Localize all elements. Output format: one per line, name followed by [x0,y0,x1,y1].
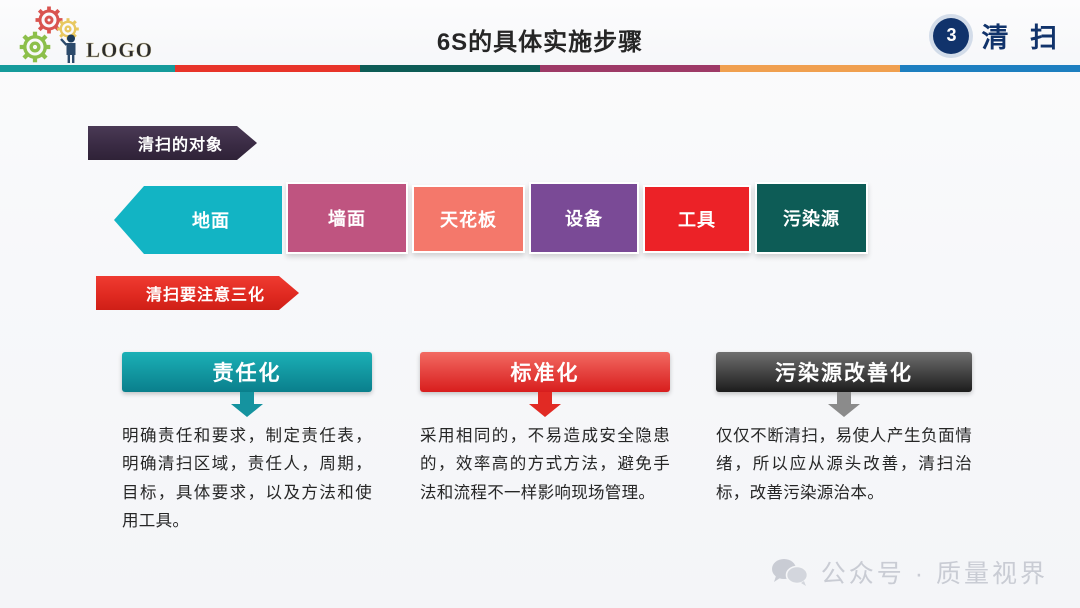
slide-header: LOGO 6S的具体实施步骤 3 清 扫 [0,0,1080,68]
principle-body: 仅仅不断清扫，易使人产生负面情绪，所以应从源头改善，清扫治标，改善污染源治本。 [716,422,972,507]
rule-segment-dark-teal [360,65,540,72]
object-chevron[interactable]: 设备 [529,182,639,254]
down-arrow-icon [827,392,861,418]
principle-column-1: 标准化 采用相同的，不易造成安全隐患的，效率高的方式方法，避免手法和流程不一样影… [420,352,670,507]
object-chevron[interactable]: 地面 [114,186,282,254]
object-chevron-label: 天花板 [440,206,497,232]
step-number-badge: 3 [933,18,969,54]
step-title: 清 扫 [981,16,1066,55]
object-chevron[interactable]: 污染源 [755,182,868,254]
banner-three-principles: 清扫要注意三化 [96,276,299,310]
object-chevron-label: 工具 [678,206,716,232]
rule-segment-teal [0,65,175,72]
object-chevron-label: 墙面 [328,205,366,231]
rule-segment-magenta [540,65,720,72]
object-chevron[interactable]: 天花板 [412,185,525,253]
header-step-indicator: 3 清 扫 [933,16,1066,55]
slide-canvas: LOGO 6S的具体实施步骤 3 清 扫 清扫的对象 地面墙面天花板设备工具污染… [0,0,1080,608]
watermark: 公众号 · 质量视界 [771,554,1048,590]
principle-title: 标准化 [420,352,670,392]
header-color-rule [0,65,1080,72]
watermark-text: 公众号 · 质量视界 [821,554,1048,590]
rule-segment-orange [720,65,900,72]
object-chevron[interactable]: 墙面 [286,182,408,254]
object-chevron[interactable]: 工具 [643,185,751,253]
object-chevron-label: 地面 [192,207,230,233]
principle-column-0: 责任化 明确责任和要求，制定责任表，明确清扫区域，责任人，周期，目标，具体要求，… [122,352,372,536]
principle-body: 采用相同的，不易造成安全隐患的，效率高的方式方法，避免手法和流程不一样影响现场管… [420,422,670,507]
principle-column-2: 污染源改善化 仅仅不断清扫，易使人产生负面情绪，所以应从源头改善，清扫治标，改善… [716,352,972,507]
object-chevron-label: 污染源 [783,205,840,231]
object-chevron-label: 设备 [565,205,603,231]
rule-segment-red [175,65,360,72]
principle-body: 明确责任和要求，制定责任表，明确清扫区域，责任人，周期，目标，具体要求，以及方法… [122,422,372,536]
page-title: 6S的具体实施步骤 [0,22,1080,57]
rule-segment-blue [900,65,1080,72]
cleaning-objects-chevron-row: 地面墙面天花板设备工具污染源 [114,182,874,258]
principle-title: 污染源改善化 [716,352,972,392]
banner-cleaning-objects: 清扫的对象 [88,126,257,160]
wechat-icon [771,557,809,587]
down-arrow-icon [230,392,264,418]
principle-title: 责任化 [122,352,372,392]
down-arrow-icon [528,392,562,418]
